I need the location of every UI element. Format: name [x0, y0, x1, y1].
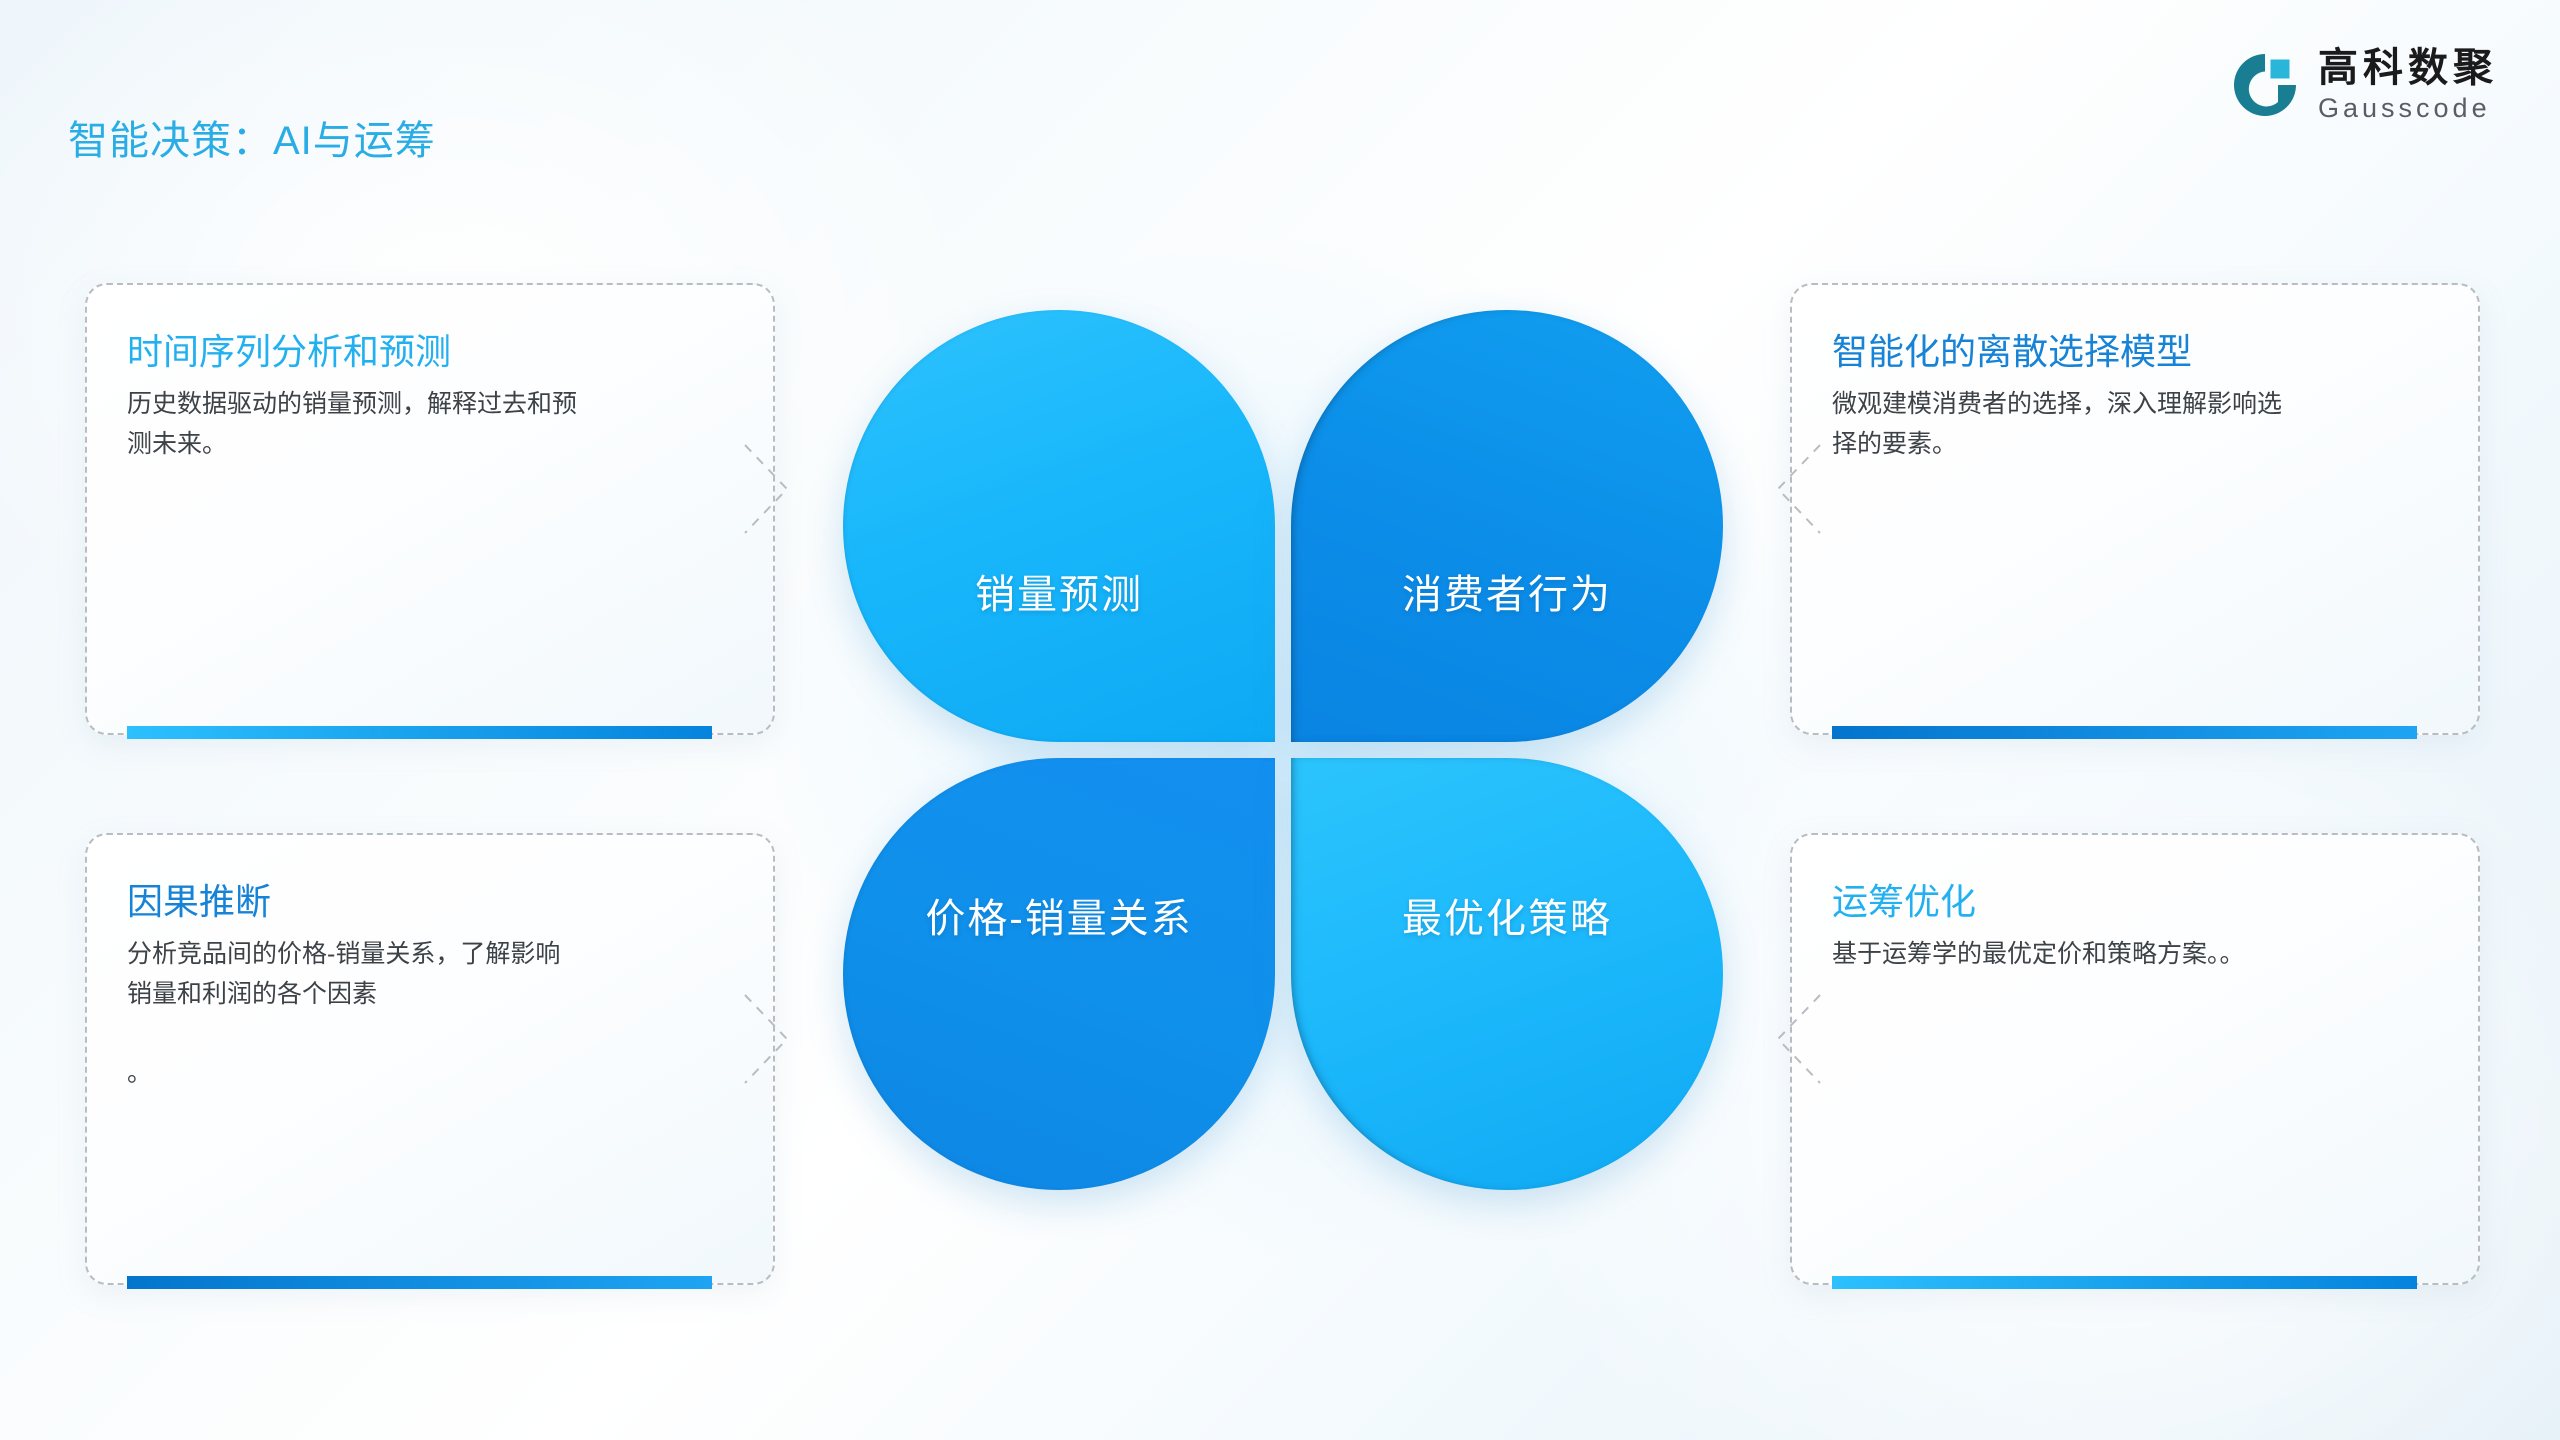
connector-chevron-icon — [745, 995, 805, 1083]
petal-label: 销量预测 — [843, 562, 1275, 620]
card-accent-bar — [1832, 1276, 2417, 1289]
card-title: 运筹优化 — [1832, 873, 1976, 925]
flower-diagram: 销量预测 消费者行为 价格-销量关系 最优化策略 — [843, 310, 1723, 1190]
card-accent-bar — [127, 726, 712, 739]
page-title: 智能决策：AI与运筹 — [68, 108, 436, 166]
logo-name-en: Gausscode — [2318, 95, 2498, 122]
petal-label: 消费者行为 — [1291, 562, 1723, 620]
card-body: 分析竞品间的价格-销量关系，了解影响 销量和利润的各个因素 。 — [127, 935, 727, 1093]
petal-optimal-strategy[interactable]: 最优化策略 — [1291, 758, 1723, 1190]
brand-logo: 高科数聚 Gausscode — [2230, 48, 2498, 122]
card-body: 历史数据驱动的销量预测，解释过去和预 测未来。 — [127, 385, 727, 464]
card-discrete-choice[interactable]: 智能化的离散选择模型 微观建模消费者的选择，深入理解影响选 择的要素。 — [1790, 283, 2480, 735]
petal-label: 最优化策略 — [1291, 886, 1723, 944]
card-title: 智能化的离散选择模型 — [1832, 323, 2192, 375]
connector-chevron-icon — [1760, 995, 1820, 1083]
card-body: 基于运筹学的最优定价和策略方案。。 — [1832, 935, 2432, 975]
petal-sales-forecast[interactable]: 销量预测 — [843, 310, 1275, 742]
connector-chevron-icon — [1760, 445, 1820, 533]
logo-name-cn: 高科数聚 — [2318, 48, 2498, 88]
card-causal-inference[interactable]: 因果推断 分析竞品间的价格-销量关系，了解影响 销量和利润的各个因素 。 — [85, 833, 775, 1285]
card-operations-research[interactable]: 运筹优化 基于运筹学的最优定价和策略方案。。 — [1790, 833, 2480, 1285]
card-accent-bar — [127, 1276, 712, 1289]
card-time-series[interactable]: 时间序列分析和预测 历史数据驱动的销量预测，解释过去和预 测未来。 — [85, 283, 775, 735]
petal-label: 价格-销量关系 — [843, 886, 1275, 944]
connector-chevron-icon — [745, 445, 805, 533]
card-title: 时间序列分析和预测 — [127, 323, 451, 375]
card-title: 因果推断 — [127, 873, 271, 925]
petal-consumer-behavior[interactable]: 消费者行为 — [1291, 310, 1723, 742]
gausscode-logo-icon — [2230, 50, 2300, 120]
card-body: 微观建模消费者的选择，深入理解影响选 择的要素。 — [1832, 385, 2432, 464]
petal-price-volume[interactable]: 价格-销量关系 — [843, 758, 1275, 1190]
slide-header: 智能决策：AI与运筹 高科数聚 Gausscode — [0, 0, 2560, 180]
card-accent-bar — [1832, 726, 2417, 739]
